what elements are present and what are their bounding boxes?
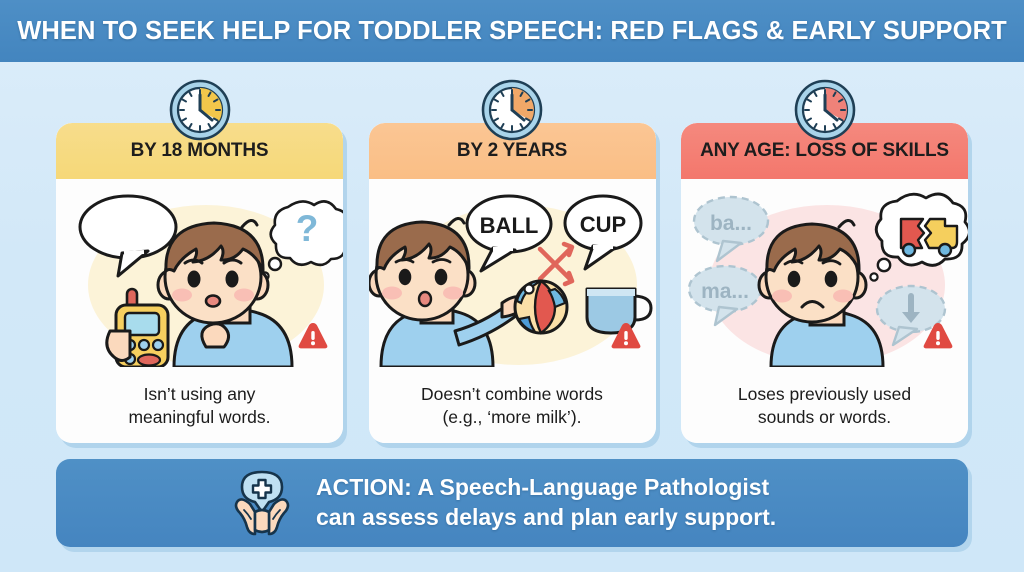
clock-icon-1 xyxy=(169,79,231,141)
bubble-text-ball: BALL xyxy=(479,213,538,238)
caption-line-1: Doesn’t combine words xyxy=(421,384,603,404)
infographic-canvas: WHEN TO SEEK HELP FOR TODDLER SPEECH: RE… xyxy=(0,0,1024,572)
caption-line-2: (e.g., ‘more milk’). xyxy=(381,406,644,429)
caption-line-1: Loses previously used xyxy=(738,384,911,404)
cards-row: BY 18 MONTHS xyxy=(56,123,968,443)
header-bar: WHEN TO SEEK HELP FOR TODDLER SPEECH: RE… xyxy=(0,0,1024,62)
warning-triangle-icon xyxy=(922,321,954,351)
card-title-3: ANY AGE: LOSS OF SKILLS xyxy=(700,140,949,162)
card-by-18-months[interactable]: BY 18 MONTHS xyxy=(56,123,343,443)
bubble-text-cup: CUP xyxy=(579,212,625,237)
card-by-2-years[interactable]: BY 2 YEARS BALL xyxy=(369,123,656,443)
card-caption-2: Doesn’t combine words (e.g., ‘more milk’… xyxy=(369,383,656,429)
caption-line-1: Isn’t using any xyxy=(144,384,256,404)
clock-icon-3 xyxy=(794,79,856,141)
svg-text:?: ? xyxy=(296,208,319,249)
action-banner-text: ACTION: A Speech-Language Pathologist ca… xyxy=(316,473,776,533)
action-line-1: ACTION: A Speech-Language Pathologist xyxy=(316,474,769,500)
card-title-2: BY 2 YEARS xyxy=(457,140,567,162)
card-caption-1: Isn’t using any meaningful words. xyxy=(56,383,343,429)
beach-ball-icon xyxy=(515,281,567,333)
faded-bubble-text-ba: ba... xyxy=(710,212,752,235)
faded-bubble-text-ma: ma... xyxy=(701,280,749,303)
caption-line-2: sounds or words. xyxy=(693,406,956,429)
warning-triangle-icon xyxy=(610,321,642,351)
clock-icon-2 xyxy=(481,79,543,141)
hands-holding-care-bubble-icon xyxy=(226,468,298,538)
action-line-2: can assess delays and plan early support… xyxy=(316,503,776,533)
page-title: WHEN TO SEEK HELP FOR TODDLER SPEECH: RE… xyxy=(17,17,1007,46)
warning-triangle-icon xyxy=(297,321,329,351)
card-any-age-loss-of-skills[interactable]: ANY AGE: LOSS OF SKILLS ba... xyxy=(681,123,968,443)
action-banner[interactable]: ACTION: A Speech-Language Pathologist ca… xyxy=(56,459,968,547)
card-caption-3: Loses previously used sounds or words. xyxy=(681,383,968,429)
caption-line-2: meaningful words. xyxy=(68,406,331,429)
card-title-1: BY 18 MONTHS xyxy=(131,140,269,162)
